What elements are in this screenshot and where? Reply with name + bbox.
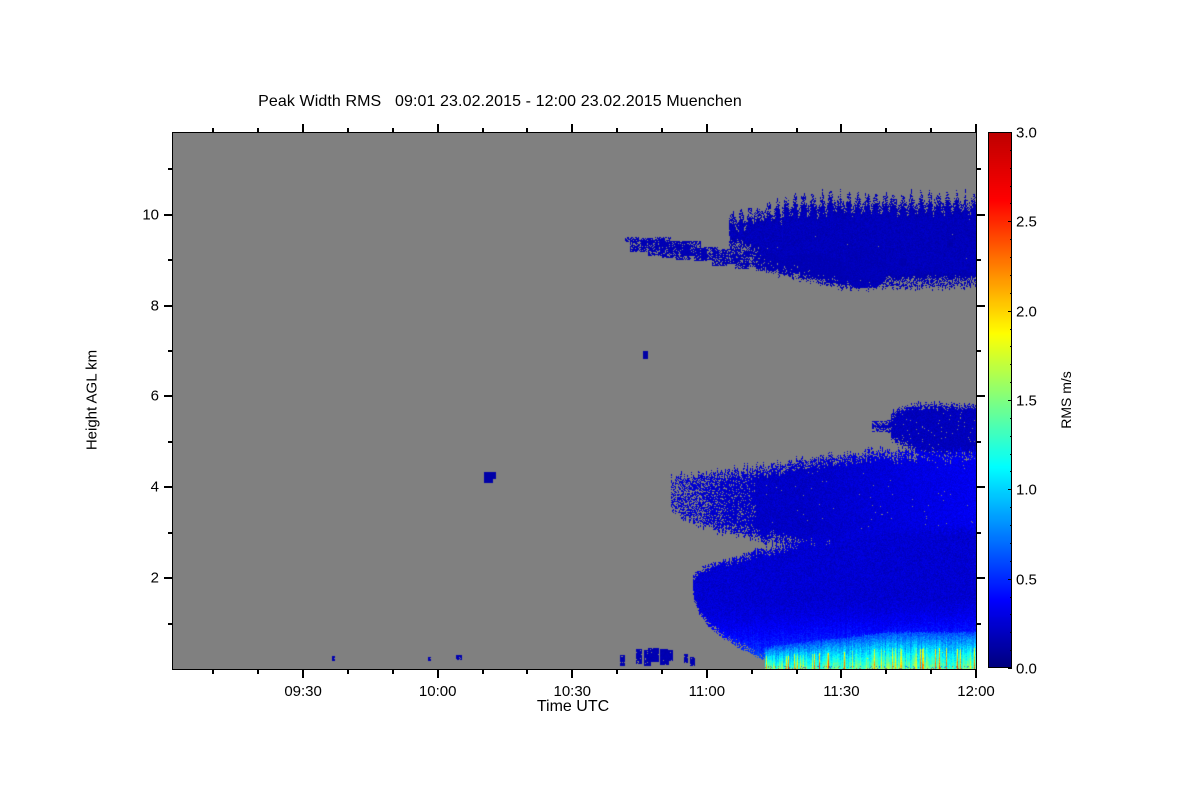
y-tick-label: 4	[113, 479, 159, 496]
x-tick-label: 09:30	[284, 683, 322, 700]
colorbar-tick-label: 3.0	[1016, 125, 1037, 142]
colorbar-tick-minor	[1010, 293, 1012, 294]
y-tick-label: 6	[113, 388, 159, 405]
colorbar-tick	[1008, 221, 1012, 222]
y-tick-major-right	[976, 214, 985, 216]
colorbar-tick-minor	[1010, 632, 1012, 633]
x-axis-label: Time UTC	[537, 698, 609, 716]
colorbar-tick-minor	[1010, 525, 1012, 526]
x-tick-label: 12:00	[957, 683, 995, 700]
x-tick-major	[302, 669, 304, 678]
colorbar-tick	[1008, 489, 1012, 490]
colorbar-tick-minor	[1010, 650, 1012, 651]
colorbar-tick-minor	[1010, 382, 1012, 383]
lidar-figure: Peak Width RMS 09:01 23.02.2015 - 12:00 …	[0, 0, 1200, 800]
colorbar-tick-minor	[1010, 203, 1012, 204]
y-axis-label: Height AGL km	[84, 350, 101, 450]
colorbar-tick-minor	[1010, 329, 1012, 330]
colorbar-tick-label: 2.0	[1016, 303, 1037, 320]
colorbar-tick-label: 0.5	[1016, 571, 1037, 588]
colorbar-tick-minor	[1010, 471, 1012, 472]
x-tick-label: 10:00	[419, 683, 457, 700]
colorbar-tick	[1008, 400, 1012, 401]
colorbar-tick-minor	[1010, 275, 1012, 276]
colorbar-tick	[1008, 311, 1012, 312]
colorbar-tick-minor	[1010, 257, 1012, 258]
y-tick-major-right	[976, 395, 985, 397]
colorbar-tick-label: 1.0	[1016, 482, 1037, 499]
colorbar-tick-label: 0.0	[1016, 661, 1037, 678]
colorbar-tick-minor	[1010, 186, 1012, 187]
colorbar-tick-minor	[1010, 614, 1012, 615]
colorbar-tick-minor	[1010, 436, 1012, 437]
colorbar-tick-minor	[1010, 168, 1012, 169]
x-tick-major	[706, 669, 708, 678]
y-tick-label: 2	[113, 570, 159, 587]
colorbar-tick-label: 1.5	[1016, 393, 1037, 410]
colorbar-tick-label: 2.5	[1016, 214, 1037, 231]
colorbar-label: RMS m/s	[1058, 371, 1074, 429]
x-tick-label: 11:30	[823, 683, 859, 700]
colorbar	[988, 132, 1012, 668]
colorbar-tick-minor	[1010, 418, 1012, 419]
x-tick-label: 11:00	[689, 683, 725, 700]
y-tick-label: 8	[113, 297, 159, 314]
x-tick-major	[437, 669, 439, 678]
colorbar-tick-minor	[1010, 561, 1012, 562]
colorbar-tick	[1008, 132, 1012, 133]
colorbar-tick-minor	[1010, 597, 1012, 598]
colorbar-tick-minor	[1010, 507, 1012, 508]
x-tick-major	[571, 669, 573, 678]
heatmap-canvas	[173, 133, 976, 669]
y-tick-major-right	[976, 577, 985, 579]
colorbar-tick-minor	[1010, 150, 1012, 151]
page-title: Peak Width RMS 09:01 23.02.2015 - 12:00 …	[0, 93, 1000, 111]
x-tick-major	[975, 669, 977, 678]
colorbar-tick	[1008, 579, 1012, 580]
colorbar-tick-minor	[1010, 364, 1012, 365]
y-tick-label: 10	[113, 206, 159, 223]
x-tick-major	[840, 669, 842, 678]
colorbar-tick-minor	[1010, 454, 1012, 455]
y-tick-major-right	[976, 486, 985, 488]
colorbar-tick-minor	[1010, 239, 1012, 240]
plot-area	[172, 132, 977, 670]
colorbar-tick-minor	[1010, 543, 1012, 544]
colorbar-tick	[1008, 668, 1012, 669]
colorbar-tick-minor	[1010, 346, 1012, 347]
y-tick-major-right	[976, 305, 985, 307]
